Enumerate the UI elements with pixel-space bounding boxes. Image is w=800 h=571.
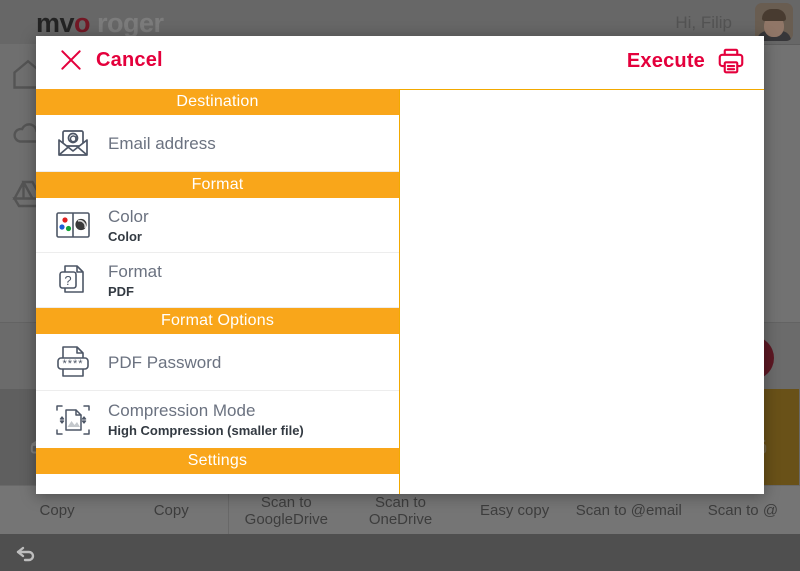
pdf-password-icon: **** <box>50 339 96 385</box>
cancel-button[interactable]: Cancel <box>58 47 163 73</box>
scan-settings-dialog: Cancel Execute Destination <box>36 36 764 494</box>
row-text: Email address <box>108 133 216 154</box>
row-format[interactable]: ? Format PDF <box>36 253 399 308</box>
row-label: Compression Mode <box>108 400 304 421</box>
screen-root: mvo roger Hi, Filip <box>0 0 800 571</box>
cancel-label: Cancel <box>96 49 163 72</box>
row-pdf-password[interactable]: **** PDF Password <box>36 334 399 391</box>
dialog-body: Destination Email address <box>36 89 764 494</box>
row-value: Color <box>108 228 149 245</box>
execute-label: Execute <box>627 50 705 73</box>
section-header-settings[interactable]: Settings <box>36 448 399 474</box>
row-value: High Compression (smaller file) <box>108 422 304 439</box>
row-label: Email address <box>108 133 216 154</box>
row-label: Format <box>108 261 162 282</box>
printer-icon <box>716 46 746 76</box>
row-color[interactable]: Color Color <box>36 198 399 253</box>
row-text: Format PDF <box>108 261 162 300</box>
row-text: Color Color <box>108 206 149 245</box>
section-header-format-options: Format Options <box>36 308 399 334</box>
row-email-address[interactable]: Email address <box>36 115 399 172</box>
row-value: PDF <box>108 283 162 300</box>
svg-text:?: ? <box>64 273 71 288</box>
dialog-toolbar: Cancel Execute <box>36 36 764 89</box>
detail-pane <box>400 89 764 494</box>
execute-button[interactable]: Execute <box>627 46 746 76</box>
row-label: PDF Password <box>108 352 221 373</box>
row-label: Color <box>108 206 149 227</box>
email-envelope-icon <box>50 120 96 166</box>
row-text: Compression Mode High Compression (small… <box>108 400 304 439</box>
close-x-icon <box>58 47 84 73</box>
svg-text:****: **** <box>62 358 83 370</box>
settings-column: Destination Email address <box>36 89 400 494</box>
section-header-format: Format <box>36 172 399 198</box>
compression-icon <box>50 397 96 443</box>
section-header-destination: Destination <box>36 89 399 115</box>
row-text: PDF Password <box>108 352 221 373</box>
file-format-icon: ? <box>50 257 96 303</box>
row-compression-mode[interactable]: Compression Mode High Compression (small… <box>36 391 399 448</box>
color-mode-icon <box>50 202 96 248</box>
